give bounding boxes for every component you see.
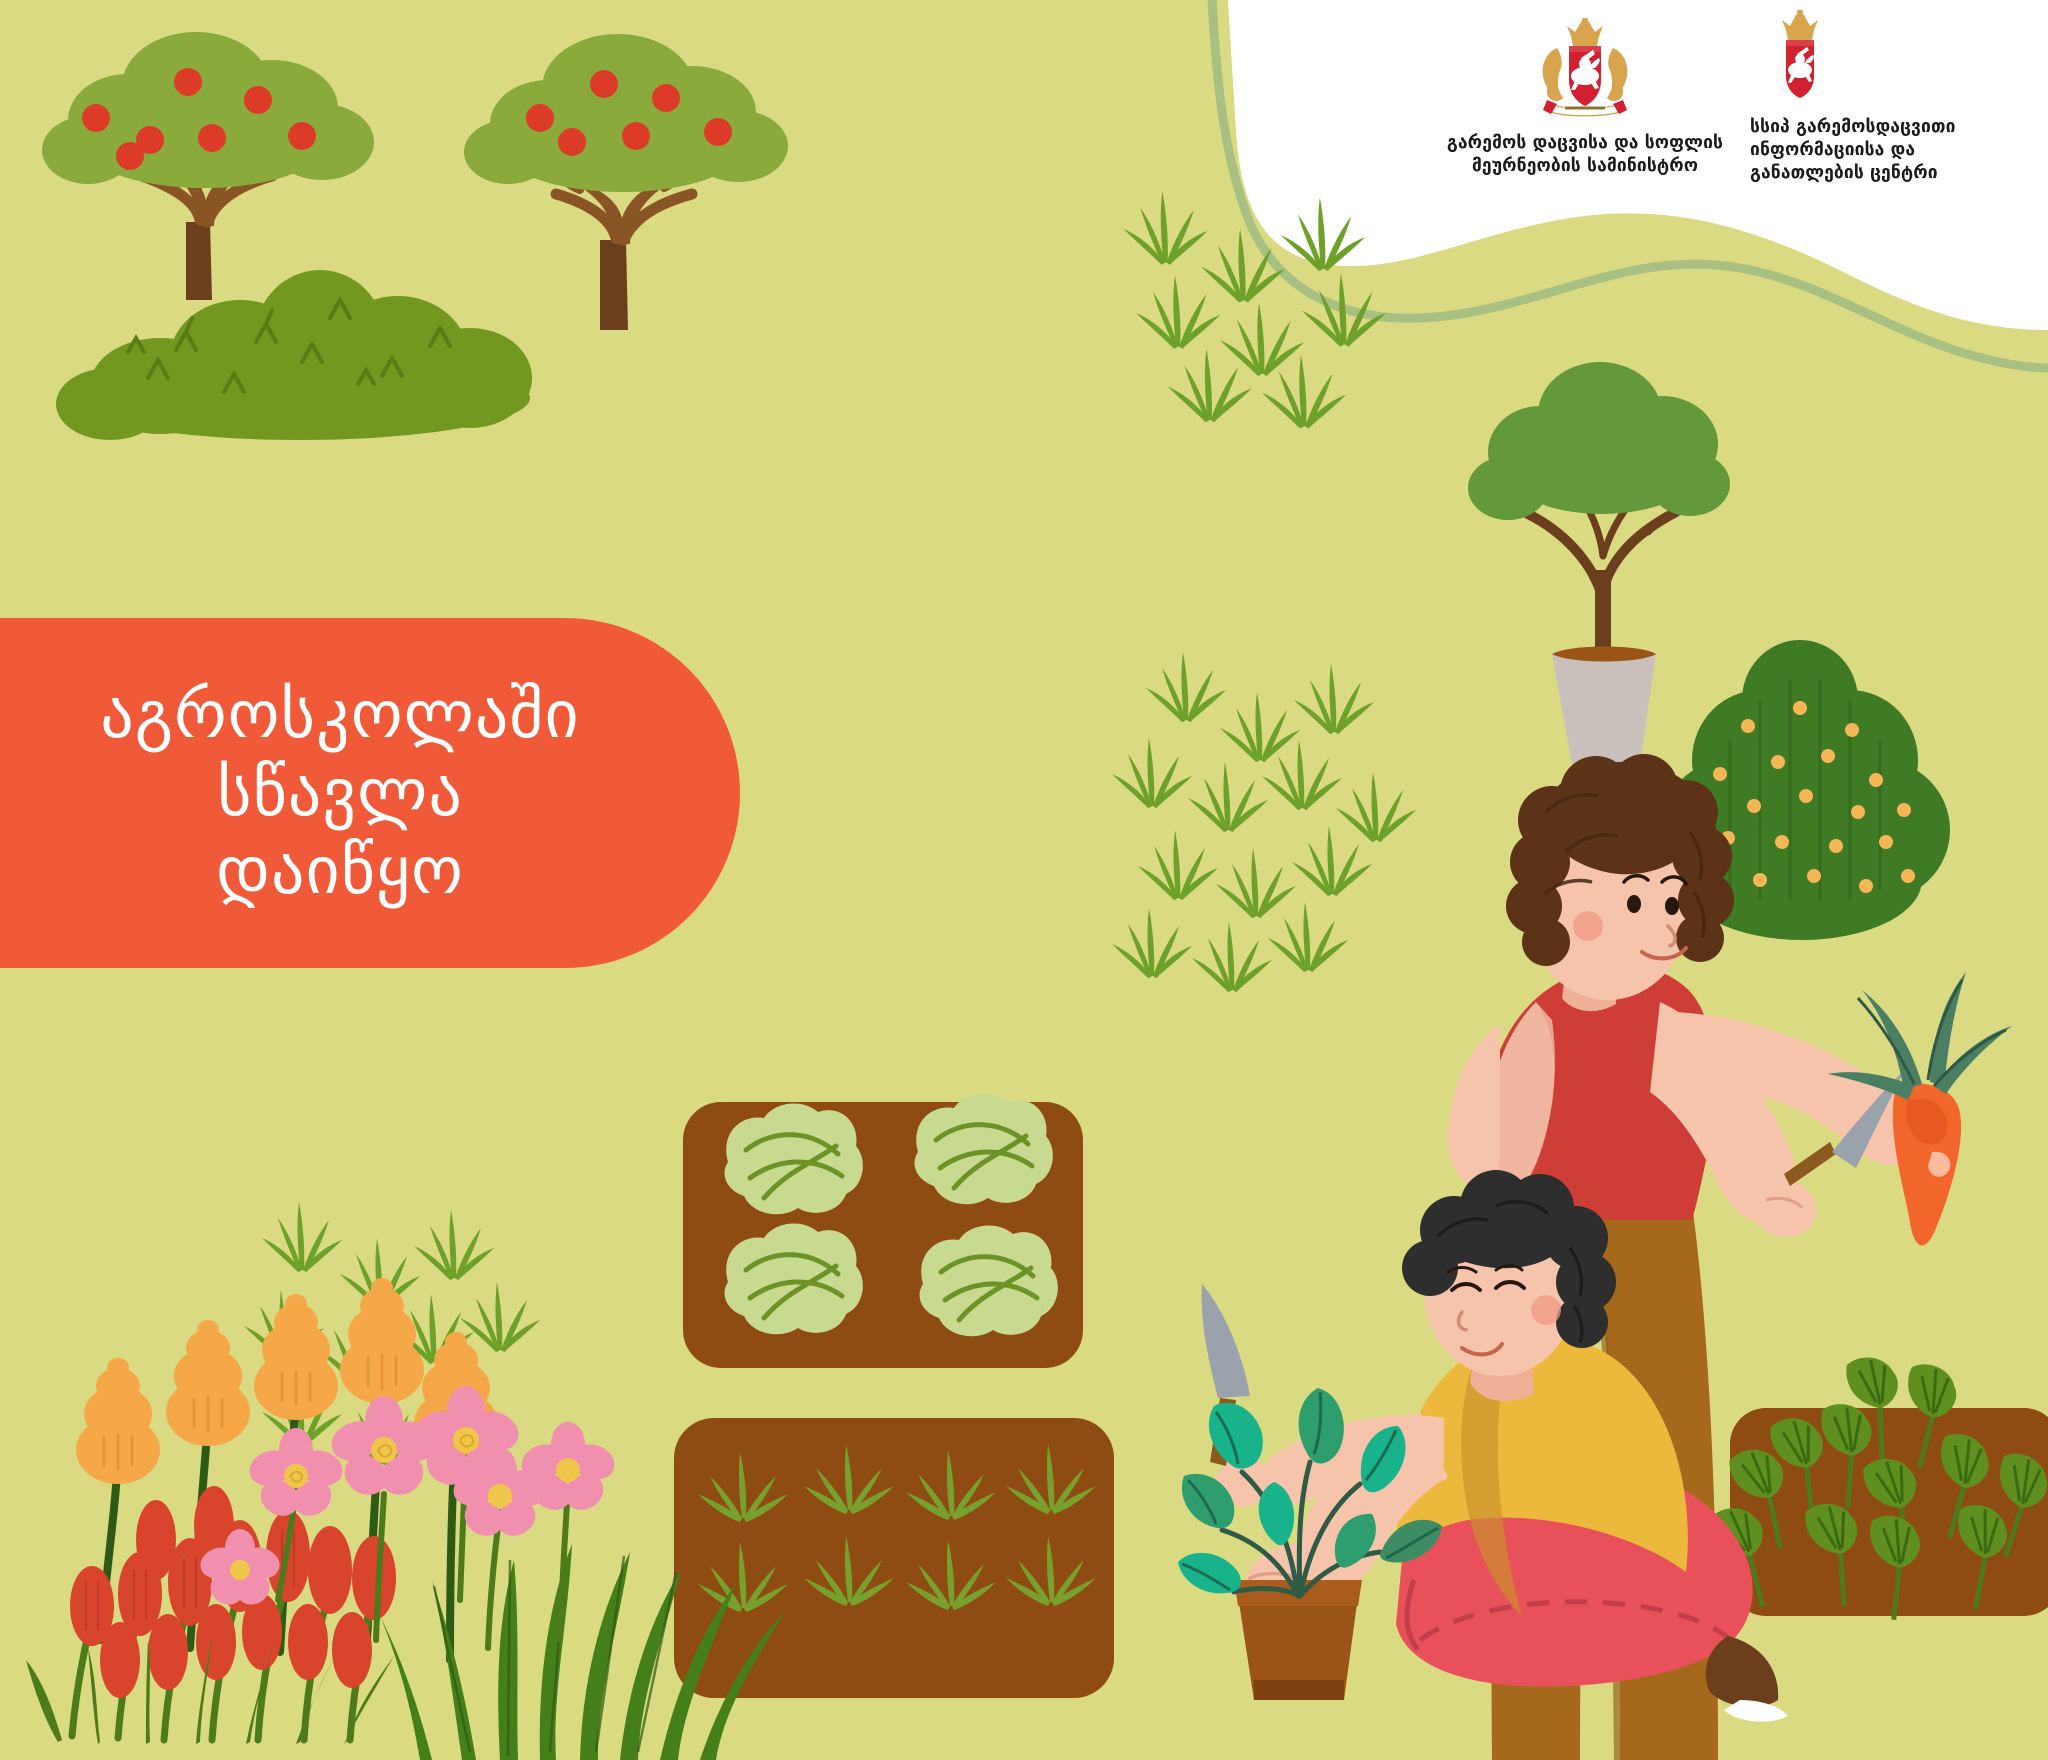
title-banner: აგროსკოლაში სწავლა დაიწყო bbox=[0, 618, 740, 968]
poster-canvas: აგროსკოლაში სწავლა დაიწყო bbox=[0, 0, 2048, 1760]
sprout-garden-bed bbox=[674, 1418, 1114, 1698]
title-line-2: სწავლა bbox=[217, 754, 463, 832]
title-line-1: აგროსკოლაში bbox=[100, 676, 579, 754]
title-line-3: დაიწყო bbox=[216, 832, 464, 910]
cabbage-garden-bed bbox=[683, 1093, 1083, 1368]
